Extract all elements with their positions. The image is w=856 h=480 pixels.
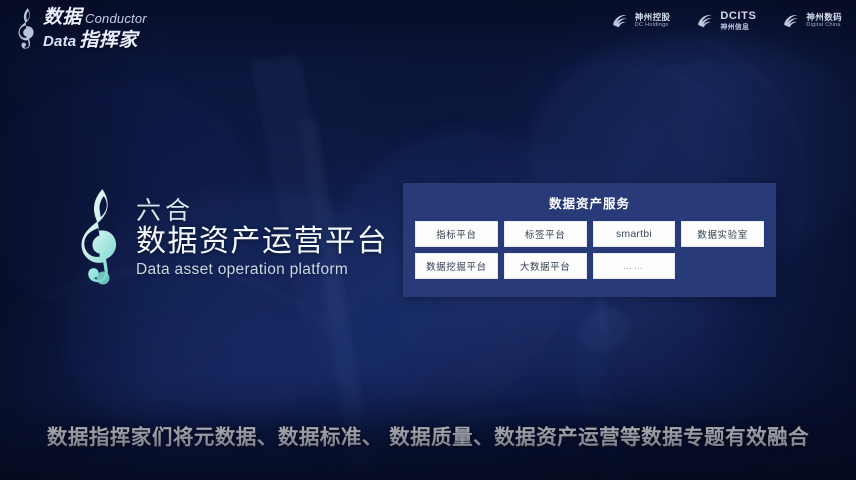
partner-en-name: Digital China — [806, 23, 842, 29]
swirl-mark-icon — [782, 13, 801, 28]
slide-root: 数据 Conductor Data 指挥家 神州控股 DC Holdings — [0, 0, 856, 480]
data-asset-service-panel: 数据资产服务 指标平台 标签平台 smartbi 数据实验室 数据挖掘平台 大数… — [403, 183, 776, 297]
brand-cn-bottom: 指挥家 — [79, 31, 138, 50]
brand-cn-top: 数据 — [43, 8, 82, 27]
partner-cn-name: 神州数码 — [806, 13, 842, 22]
partner-cn-name: DCITS — [720, 11, 756, 23]
partner-cn-name: 神州控股 — [635, 13, 671, 22]
platform-title-block: 六合 数据资产运营平台 Data asset operation platfor… — [72, 186, 388, 290]
brand-en-data: Data — [43, 34, 76, 49]
service-card-row: 数据挖掘平台 大数据平台 …… — [415, 253, 764, 279]
service-card-grid: 指标平台 标签平台 smartbi 数据实验室 数据挖掘平台 大数据平台 …… — [403, 212, 776, 279]
panel-heading: 数据资产服务 — [403, 183, 776, 212]
caption-gradient-band — [0, 396, 856, 480]
partner-en-name: 神州信息 — [720, 24, 756, 31]
header-bar: 数据 Conductor Data 指挥家 神州控股 DC Holdings — [0, 0, 856, 56]
brand-en-conductor: Conductor — [85, 12, 147, 25]
service-card-shuju-shiyanshi[interactable]: 数据实验室 — [681, 221, 764, 247]
title-line-english: Data asset operation platform — [136, 262, 388, 278]
service-card-row: 指标平台 标签平台 smartbi 数据实验室 — [415, 221, 764, 247]
swirl-mark-icon — [696, 13, 715, 28]
partner-logo-group: 神州控股 DC Holdings DCITS 神州信息 神州数码 — [611, 11, 842, 31]
title-line-platform: 数据资产运营平台 — [136, 227, 388, 257]
partner-logo-dcits: DCITS 神州信息 — [696, 11, 756, 31]
service-card-more-ellipsis[interactable]: …… — [593, 253, 676, 279]
service-card-dashuju-pingtai[interactable]: 大数据平台 — [504, 253, 587, 279]
service-card-shuju-wajue-pingtai[interactable]: 数据挖掘平台 — [415, 253, 498, 279]
partner-logo-dc-holdings: 神州控股 DC Holdings — [611, 13, 671, 29]
title-line-liuhe: 六合 — [136, 199, 388, 224]
partner-en-name: DC Holdings — [635, 23, 671, 29]
brand-logo: 数据 Conductor Data 指挥家 — [14, 6, 147, 50]
swirl-mark-icon — [611, 13, 630, 28]
service-card-biaoqian-pingtai[interactable]: 标签平台 — [504, 221, 587, 247]
partner-logo-digital-china: 神州数码 Digital China — [782, 13, 842, 29]
service-card-smartbi[interactable]: smartbi — [593, 221, 676, 247]
treble-clef-icon — [14, 6, 40, 50]
service-card-zhibiao-pingtai[interactable]: 指标平台 — [415, 221, 498, 247]
treble-clef-icon — [72, 186, 128, 290]
